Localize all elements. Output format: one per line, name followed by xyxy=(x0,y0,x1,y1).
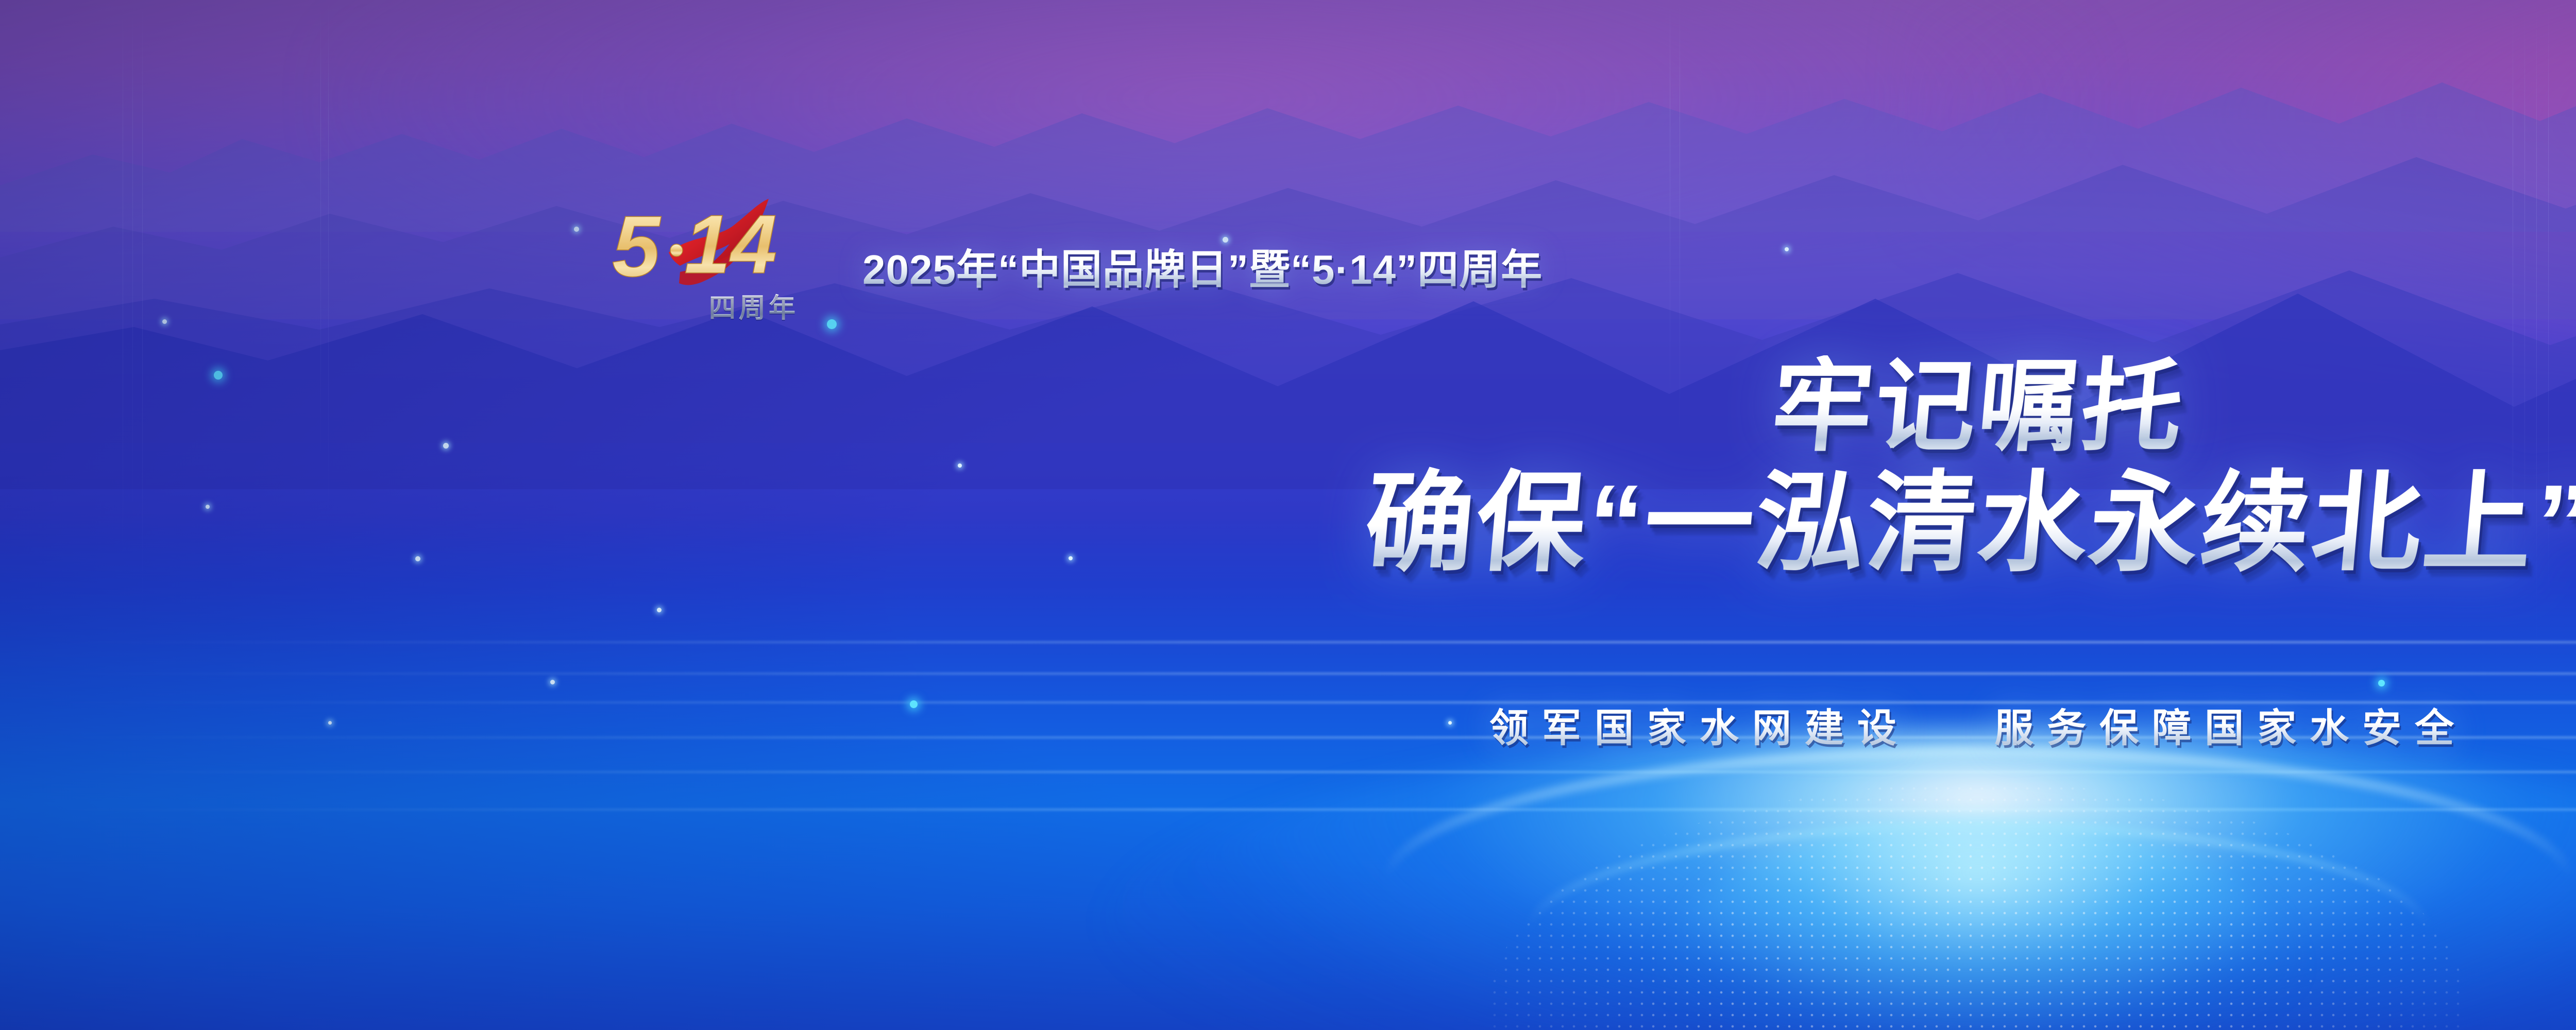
banner-content: 5 14 四周年 2025年“中国品牌日”暨“5·14”四周年 xyxy=(0,0,2576,1030)
event-emblem-row: 5 14 四周年 2025年“中国品牌日”暨“5·14”四周年 xyxy=(608,195,1543,323)
subline-part-1: 领军国家水网建设 xyxy=(1489,707,1910,750)
subline-block: 领军国家水网建设 服务保障国家水安全 xyxy=(0,696,2576,753)
banner-stage: 5 14 四周年 2025年“中国品牌日”暨“5·14”四周年 xyxy=(0,0,2576,1030)
emblem-anniversary-label: 四周年 xyxy=(709,286,799,325)
anniversary-emblem: 5 14 四周年 xyxy=(608,195,845,323)
event-title-line: 2025年“中国品牌日”暨“5·14”四周年 xyxy=(862,236,1543,296)
svg-text:5: 5 xyxy=(612,198,662,295)
headline-block: 牢记嘱托 确保“一泓清水永续北上” xyxy=(0,355,2576,581)
svg-text:14: 14 xyxy=(684,198,777,291)
subline-part-2: 服务保障国家水安全 xyxy=(1994,707,2467,750)
headline-line-2: 确保“一泓清水永续北上” xyxy=(0,466,2576,581)
headline-line-1: 牢记嘱托 xyxy=(0,355,2576,458)
